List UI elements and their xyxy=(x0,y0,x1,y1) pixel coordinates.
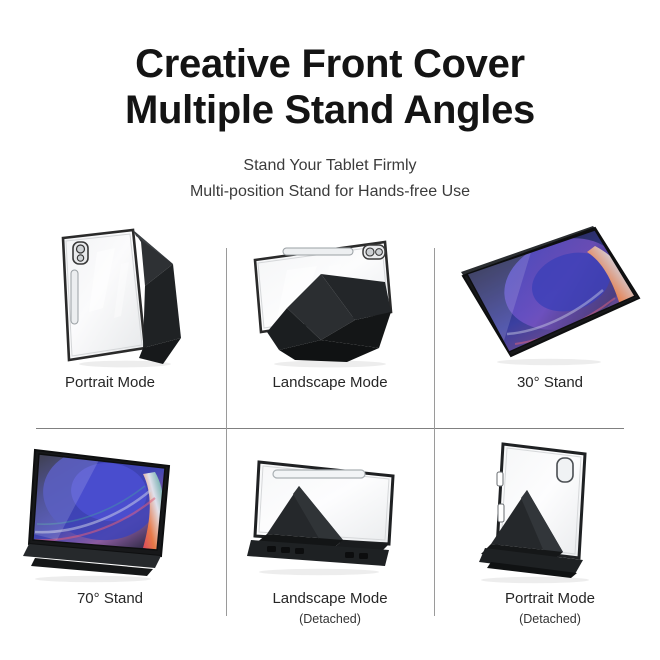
page-title-line-1: Creative Front Cover xyxy=(0,42,660,88)
feature-label: Portrait Mode xyxy=(65,374,155,393)
tablet-portrait-stand-icon xyxy=(5,212,215,370)
feature-label: Portrait Mode xyxy=(505,590,595,609)
case-detached-landscape-icon xyxy=(225,428,435,586)
feature-cell-70-stand: 70° Stand xyxy=(0,428,220,644)
feature-label: Landscape Mode xyxy=(272,590,387,609)
feature-grid: Portrait Mode xyxy=(0,212,660,660)
page-title-line-2: Multiple Stand Angles xyxy=(0,88,660,134)
feature-cell-portrait-detached: Portrait Mode (Detached) xyxy=(440,428,660,644)
feature-label: 30° Stand xyxy=(517,374,583,393)
feature-cell-portrait-mode: Portrait Mode xyxy=(0,212,220,428)
feature-sub-label: (Detached) xyxy=(299,612,361,626)
feature-cell-landscape-mode: Landscape Mode xyxy=(220,212,440,428)
tablet-screen-30deg-icon xyxy=(445,212,655,370)
header-block: Creative Front Cover Multiple Stand Angl… xyxy=(0,0,660,205)
subtitle-line-1: Stand Your Tablet Firmly xyxy=(0,153,660,179)
subtitle-block: Stand Your Tablet Firmly Multi-position … xyxy=(0,153,660,205)
feature-cell-30-stand: 30° Stand xyxy=(440,212,660,428)
tablet-landscape-stand-icon xyxy=(225,212,435,370)
feature-row-top: Portrait Mode xyxy=(0,212,660,428)
feature-cell-landscape-detached: Landscape Mode (Detached) xyxy=(220,428,440,644)
tablet-screen-70deg-icon xyxy=(5,428,215,586)
subtitle-line-2: Multi-position Stand for Hands-free Use xyxy=(0,179,660,205)
feature-label: Landscape Mode xyxy=(272,374,387,393)
case-detached-portrait-icon xyxy=(445,428,655,586)
feature-sub-label: (Detached) xyxy=(519,612,581,626)
feature-label: 70° Stand xyxy=(77,590,143,609)
feature-row-bottom: 70° Stand xyxy=(0,428,660,644)
